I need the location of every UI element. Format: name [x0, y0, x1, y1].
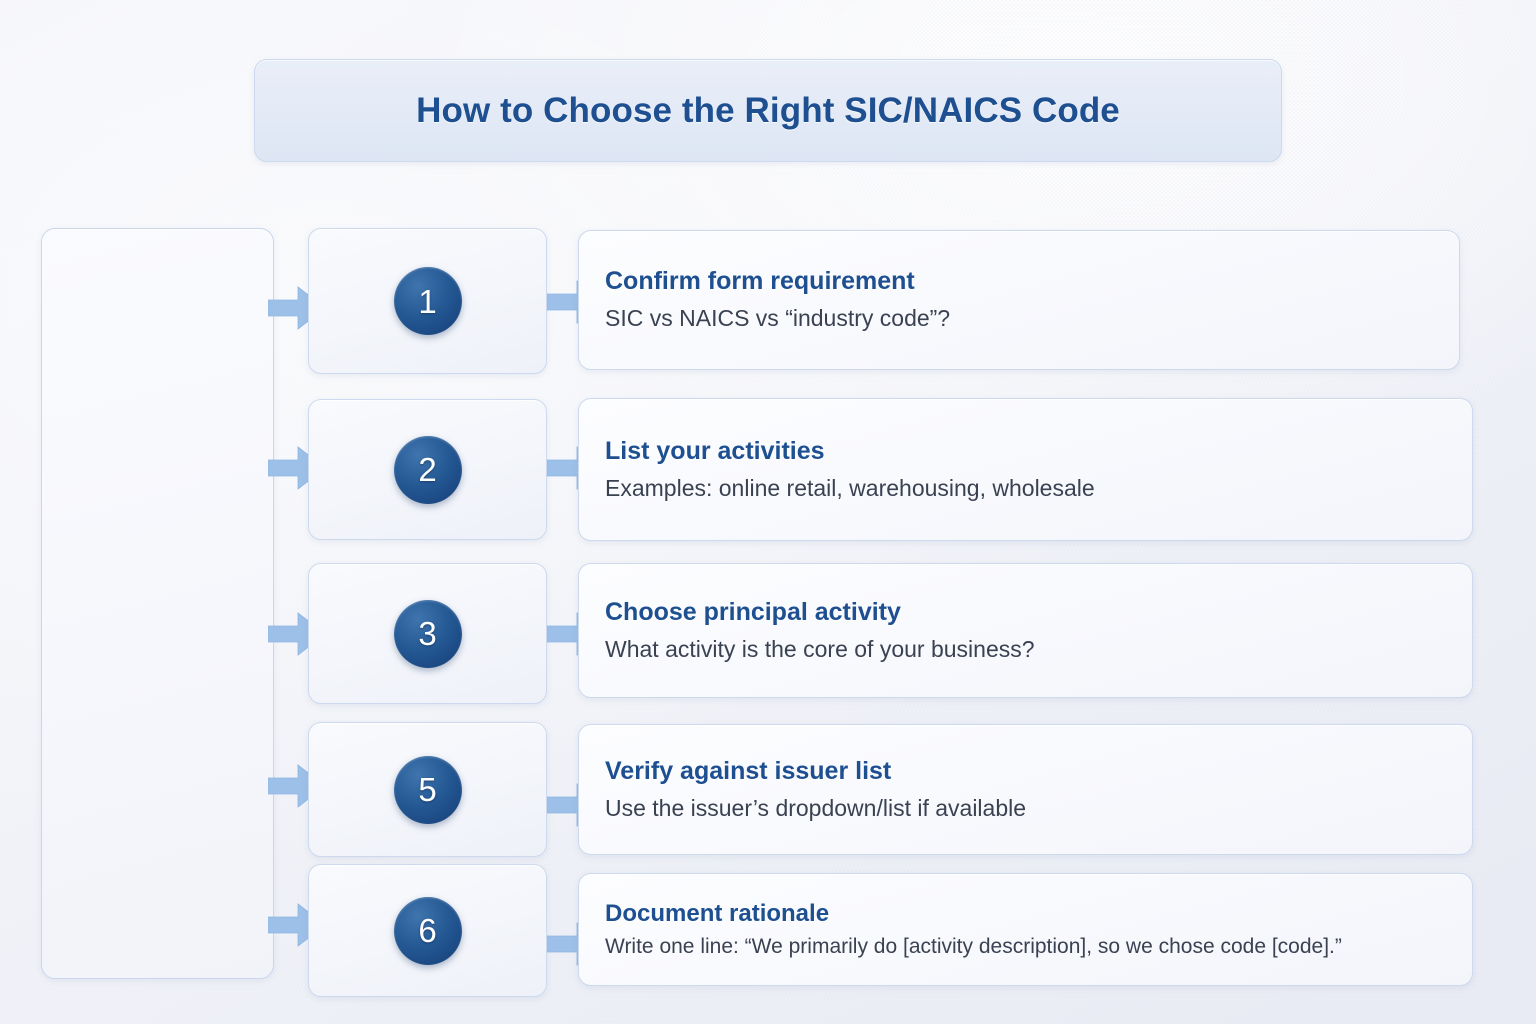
step-title: Choose principal activity	[605, 598, 1472, 627]
step-content-card: Confirm form requirement SIC vs NAICS vs…	[578, 230, 1460, 370]
step-content-card: Document rationale Write one line: “We p…	[578, 873, 1473, 986]
step-number-badge: 2	[394, 436, 462, 504]
left-rail-panel	[41, 228, 274, 979]
step-badge-card: 5	[308, 722, 547, 857]
step-title: Document rationale	[605, 900, 1472, 928]
step-badge-card: 2	[308, 399, 547, 540]
step-content-card: Verify against issuer list Use the issue…	[578, 724, 1473, 855]
step-number: 6	[418, 914, 436, 947]
step-number-badge: 3	[394, 600, 462, 668]
step-badge-card: 1	[308, 228, 547, 374]
step-title: Confirm form requirement	[605, 267, 1459, 296]
step-description: Write one line: “We primarily do [activi…	[605, 934, 1472, 959]
step-number: 3	[418, 617, 436, 650]
step-number-badge: 1	[394, 267, 462, 335]
page-title: How to Choose the Right SIC/NAICS Code	[416, 91, 1120, 131]
step-title: Verify against issuer list	[605, 757, 1472, 786]
step-number: 2	[418, 453, 436, 486]
step-description: Examples: online retail, warehousing, wh…	[605, 475, 1472, 503]
step-number: 5	[418, 773, 436, 806]
step-badge-card: 3	[308, 563, 547, 704]
step-content-card: Choose principal activity What activity …	[578, 563, 1473, 698]
step-description: Use the issuer’s dropdown/list if availa…	[605, 795, 1472, 823]
step-number-badge: 6	[394, 897, 462, 965]
step-content-card: List your activities Examples: online re…	[578, 398, 1473, 541]
infographic-canvas: How to Choose the Right SIC/NAICS Code 1…	[0, 0, 1536, 1024]
step-number: 1	[418, 285, 436, 318]
step-description: What activity is the core of your busine…	[605, 636, 1472, 664]
step-title: List your activities	[605, 437, 1472, 466]
step-badge-card: 6	[308, 864, 547, 997]
step-number-badge: 5	[394, 756, 462, 824]
page-title-card: How to Choose the Right SIC/NAICS Code	[254, 59, 1282, 162]
step-description: SIC vs NAICS vs “industry code”?	[605, 305, 1459, 333]
